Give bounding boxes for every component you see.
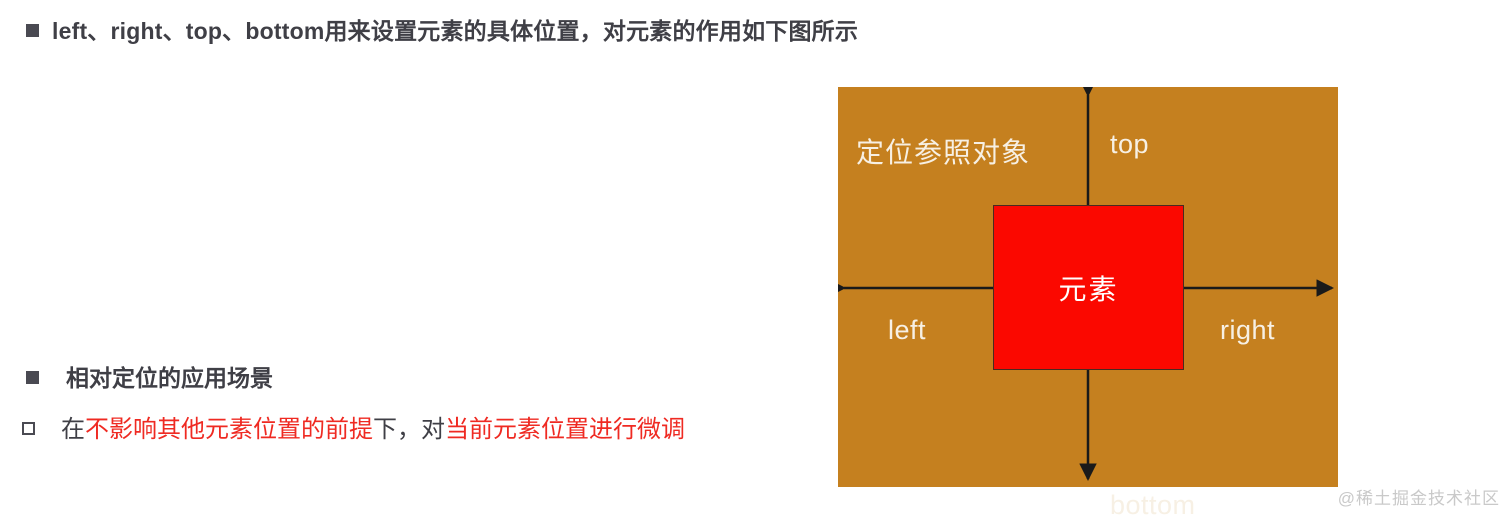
element-label: 元素 xyxy=(994,268,1183,308)
heading-bullet-row: left、right、top、bottom用来设置元素的具体位置，对元素的作用如… xyxy=(26,12,858,46)
axis-label-right: right xyxy=(1220,315,1275,346)
axis-label-left: left xyxy=(888,315,926,346)
heading-text: left、right、top、bottom用来设置元素的具体位置，对元素的作用如… xyxy=(52,12,858,46)
detail-segment-highlight-1: 不影响其他元素位置的前提 xyxy=(85,416,373,443)
watermark: @稀土掘金技术社区 xyxy=(1338,484,1500,509)
filled-square-bullet-icon xyxy=(26,24,39,37)
scene-text: 相对定位的应用场景 xyxy=(66,359,273,393)
detail-segment-plain-2: 下，对 xyxy=(373,416,445,443)
element-box: 元素 xyxy=(993,205,1184,370)
axis-label-bottom: bottom xyxy=(1110,490,1196,521)
scene-bullet-row: 相对定位的应用场景 xyxy=(26,359,273,393)
container-label: 定位参照对象 xyxy=(856,131,1030,171)
filled-square-bullet-icon xyxy=(26,371,39,384)
detail-segment-highlight-2: 当前元素位置进行微调 xyxy=(445,416,685,443)
detail-text: 在不影响其他元素位置的前提下，对当前元素位置进行微调 xyxy=(61,409,685,444)
detail-segment-plain-1: 在 xyxy=(61,416,85,443)
hollow-square-bullet-icon xyxy=(22,422,35,435)
detail-bullet-row: 在不影响其他元素位置的前提下，对当前元素位置进行微调 xyxy=(22,409,685,444)
slide-text-column: left、right、top、bottom用来设置元素的具体位置，对元素的作用如… xyxy=(0,0,820,517)
positioning-reference-diagram: 定位参照对象 top left right bottom 元素 xyxy=(838,87,1338,487)
axis-label-top: top xyxy=(1110,129,1149,160)
